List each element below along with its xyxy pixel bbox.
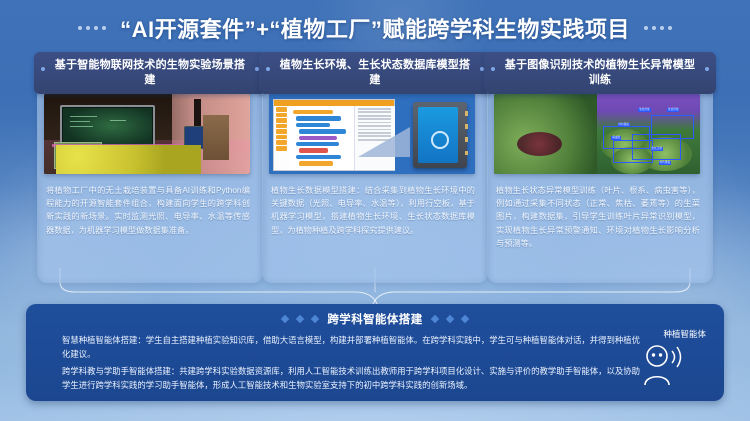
speaking-person-icon (633, 342, 695, 386)
diamond-decoration-left-icon (282, 316, 318, 322)
header-bullet-left-icon (41, 67, 45, 71)
detection-label: 叶片焦枯 (618, 123, 630, 127)
title-dots-right-icon (644, 26, 672, 30)
cards-row: 基于智能物联网技术的生物实验场景搭建 (0, 52, 750, 290)
card-header: 基于图像识别技术的植物生长异常模型训练 (484, 52, 716, 94)
agent-label: 种植智能体 (663, 328, 710, 340)
header-bullet-right-icon (705, 67, 709, 71)
photo-lettuce-plain (494, 94, 597, 174)
detection-label: 生长异常 (638, 108, 650, 112)
title-dots-left-icon (78, 26, 106, 30)
detection-label: 叶片萎蔫 (659, 161, 671, 165)
page-title: “AI开源套件”+“植物工厂”赋能跨学科生物实践项目 (120, 12, 630, 44)
slide-canvas: “AI开源套件”+“植物工厂”赋能跨学科生物实践项目 基于智能物联网技术的生物实… (0, 0, 750, 421)
card-body-text: 植物生长数据模型搭建：结合采集到植物生长环境中的关键数据（光照、电导率、水温等）… (271, 184, 475, 237)
detection-label: 病虫害 (611, 136, 621, 140)
card-image-recognition[interactable]: 基于图像识别技术的植物生长异常模型训练 (484, 52, 716, 290)
card-header-label: 植物生长环境、生长状态数据库模型搭建 (275, 58, 475, 88)
bottom-panel: 跨学科智能体搭建 智慧种植智能体搭建：学生自主搭建种植实验知识库，借助大语言模型… (26, 304, 724, 401)
detection-label: 生长正常 (651, 147, 663, 151)
card-photo-ide-and-board (269, 94, 475, 174)
card-header-label: 基于图像识别技术的植物生长异常模型训练 (500, 58, 700, 88)
bottom-panel-text: 智慧种植智能体搭建：学生自主搭建种植实验知识库，借助大语言模型，构建并部署种植智… (62, 333, 640, 395)
card-body-text: 将植物工厂中的无土栽培装置与具备AI训练和Python编程能力的开源智能套件组合… (46, 184, 250, 237)
bottom-paragraph-1: 智慧种植智能体搭建：学生自主搭建种植实验知识库，借助大语言模型，构建并部署种植智… (62, 333, 640, 361)
card-header: 基于智能物联网技术的生物实验场景搭建 (34, 52, 266, 94)
card-database-model[interactable]: 植物生长环境、生长状态数据库模型搭建 (259, 52, 491, 290)
bottom-paragraph-2: 跨学科教与学助手智能体搭建：共建跨学科实验数据资源库，利用人工智能技术训练出教师… (62, 364, 640, 392)
detection-label: 生长异常 (667, 108, 679, 112)
bottom-panel-header: 跨学科智能体搭建 (26, 309, 724, 329)
title-row: “AI开源套件”+“植物工厂”赋能跨学科生物实践项目 (0, 8, 750, 48)
header-bullet-left-icon (491, 67, 495, 71)
card-header-label: 基于智能物联网技术的生物实验场景搭建 (50, 58, 250, 88)
card-iot-lab[interactable]: 基于智能物联网技术的生物实验场景搭建 (34, 52, 266, 290)
diamond-decoration-right-icon (432, 316, 468, 322)
card-header: 植物生长环境、生长状态数据库模型搭建 (259, 52, 491, 94)
card-photo-plant-factory (44, 94, 250, 174)
header-bullet-left-icon (266, 67, 270, 71)
agent-illustration: 种植智能体 (618, 328, 710, 394)
card-photo-lettuce-detection: 生长异常 生长异常 叶片焦枯 病虫害 生长正常 叶片萎蔫 (494, 94, 700, 174)
photo-lettuce-detected: 生长异常 生长异常 叶片焦枯 病虫害 生长正常 叶片萎蔫 (597, 94, 700, 174)
bottom-header-label: 跨学科智能体搭建 (327, 311, 422, 327)
card-body-text: 植物生长状态异常模型训练（叶片、根系、病虫害等），例如通过采集不同状态（正常、焦… (496, 184, 700, 250)
